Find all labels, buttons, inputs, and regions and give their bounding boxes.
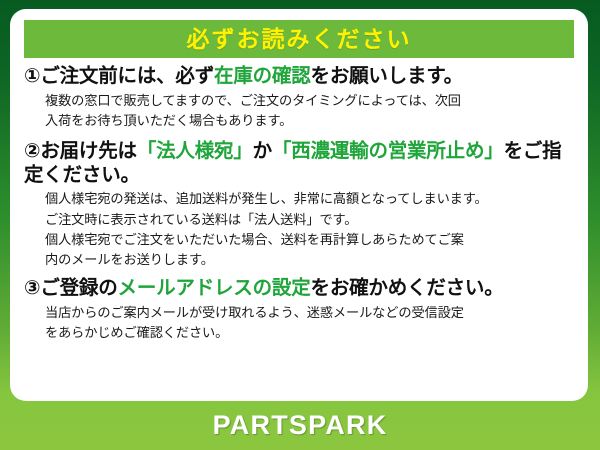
notice-poster: 必ずお読みください ①ご注文前には、必ず在庫の確認をお願いします。 複数の窓口で…: [0, 0, 600, 450]
notice-item-3-subtext: 当店からのご案内メールが受け取れるよう、迷惑メールなどの受信設定 をあらかじめご…: [24, 303, 576, 343]
notice-item-2-highlight-2: 「西濃運輸の営業所止め」: [272, 140, 504, 162]
notice-item-2-headline: ②お届け先は「法人様宛」か「西濃運輸の営業所止め」をご指定ください。: [24, 140, 576, 188]
notice-item-2-text-b: か: [253, 140, 272, 162]
notice-item-2-highlight-1: 「法人様宛」: [137, 140, 253, 162]
notice-item-2-number: ②: [24, 140, 40, 162]
footer-band: PARTSPARK: [0, 401, 600, 450]
notice-item-1-number: ①: [24, 65, 40, 87]
page-title: 必ずお読みください: [187, 28, 412, 51]
notice-item-1-text-a: ご注文前には、必ず: [40, 65, 214, 87]
notice-item-2-subline-2: ご注文時に表示されている送料は「法人送料」です。: [45, 210, 576, 230]
notice-item-1-text-b: をお願いします。: [311, 65, 463, 87]
notice-card: 必ずお読みください ①ご注文前には、必ず在庫の確認をお願いします。 複数の窓口で…: [10, 9, 588, 401]
notice-item-1-subline-1: 複数の窓口で販売してますので、ご注文のタイミングによっては、次回: [45, 91, 576, 111]
brand-logo-text: PARTSPARK: [213, 412, 388, 439]
notice-item-3-text-a: ご登録の: [40, 277, 117, 299]
notice-item-1-subline-2: 入荷をお待ち頂いただく場合もあります。: [45, 111, 576, 131]
notice-item-3-number: ③: [24, 277, 40, 299]
notice-item-2-subline-3: 個人様宅宛でご注文をいただいた場合、送料を再計算しあらためてご案: [45, 230, 576, 250]
notice-item-1: ①ご注文前には、必ず在庫の確認をお願いします。 複数の窓口で販売してますので、ご…: [24, 65, 576, 131]
notice-item-3-highlight: メールアドレスの設定: [118, 277, 311, 299]
notice-item-2: ②お届け先は「法人様宛」か「西濃運輸の営業所止め」をご指定ください。 個人様宅宛…: [24, 140, 576, 270]
notice-item-3-subline-2: をあらかじめご確認ください。: [45, 323, 576, 343]
notice-item-3-text-b: をお確かめください。: [311, 277, 504, 299]
notice-item-1-subtext: 複数の窓口で販売してますので、ご注文のタイミングによっては、次回 入荷をお待ち頂…: [24, 91, 576, 131]
notice-item-2-subline-1: 個人様宅宛の発送は、追加送料が発生し、非常に高額となってしまいます。: [45, 189, 576, 209]
notice-item-2-text-a: お届け先は: [40, 140, 137, 162]
notice-content: ①ご注文前には、必ず在庫の確認をお願いします。 複数の窓口で販売してますので、ご…: [10, 65, 588, 343]
notice-item-2-subtext: 個人様宅宛の発送は、追加送料が発生し、非常に高額となってしまいます。 ご注文時に…: [24, 189, 576, 269]
notice-item-3: ③ご登録のメールアドレスの設定をお確かめください。 当店からのご案内メールが受け…: [24, 277, 576, 343]
header-banner: 必ずお読みください: [24, 20, 574, 58]
notice-item-1-highlight: 在庫の確認: [214, 65, 311, 87]
notice-item-3-headline: ③ご登録のメールアドレスの設定をお確かめください。: [24, 277, 576, 301]
notice-item-2-subline-4: 内のメールをお送りします。: [45, 250, 576, 270]
notice-item-1-headline: ①ご注文前には、必ず在庫の確認をお願いします。: [24, 65, 576, 89]
notice-item-3-subline-1: 当店からのご案内メールが受け取れるよう、迷惑メールなどの受信設定: [45, 303, 576, 323]
